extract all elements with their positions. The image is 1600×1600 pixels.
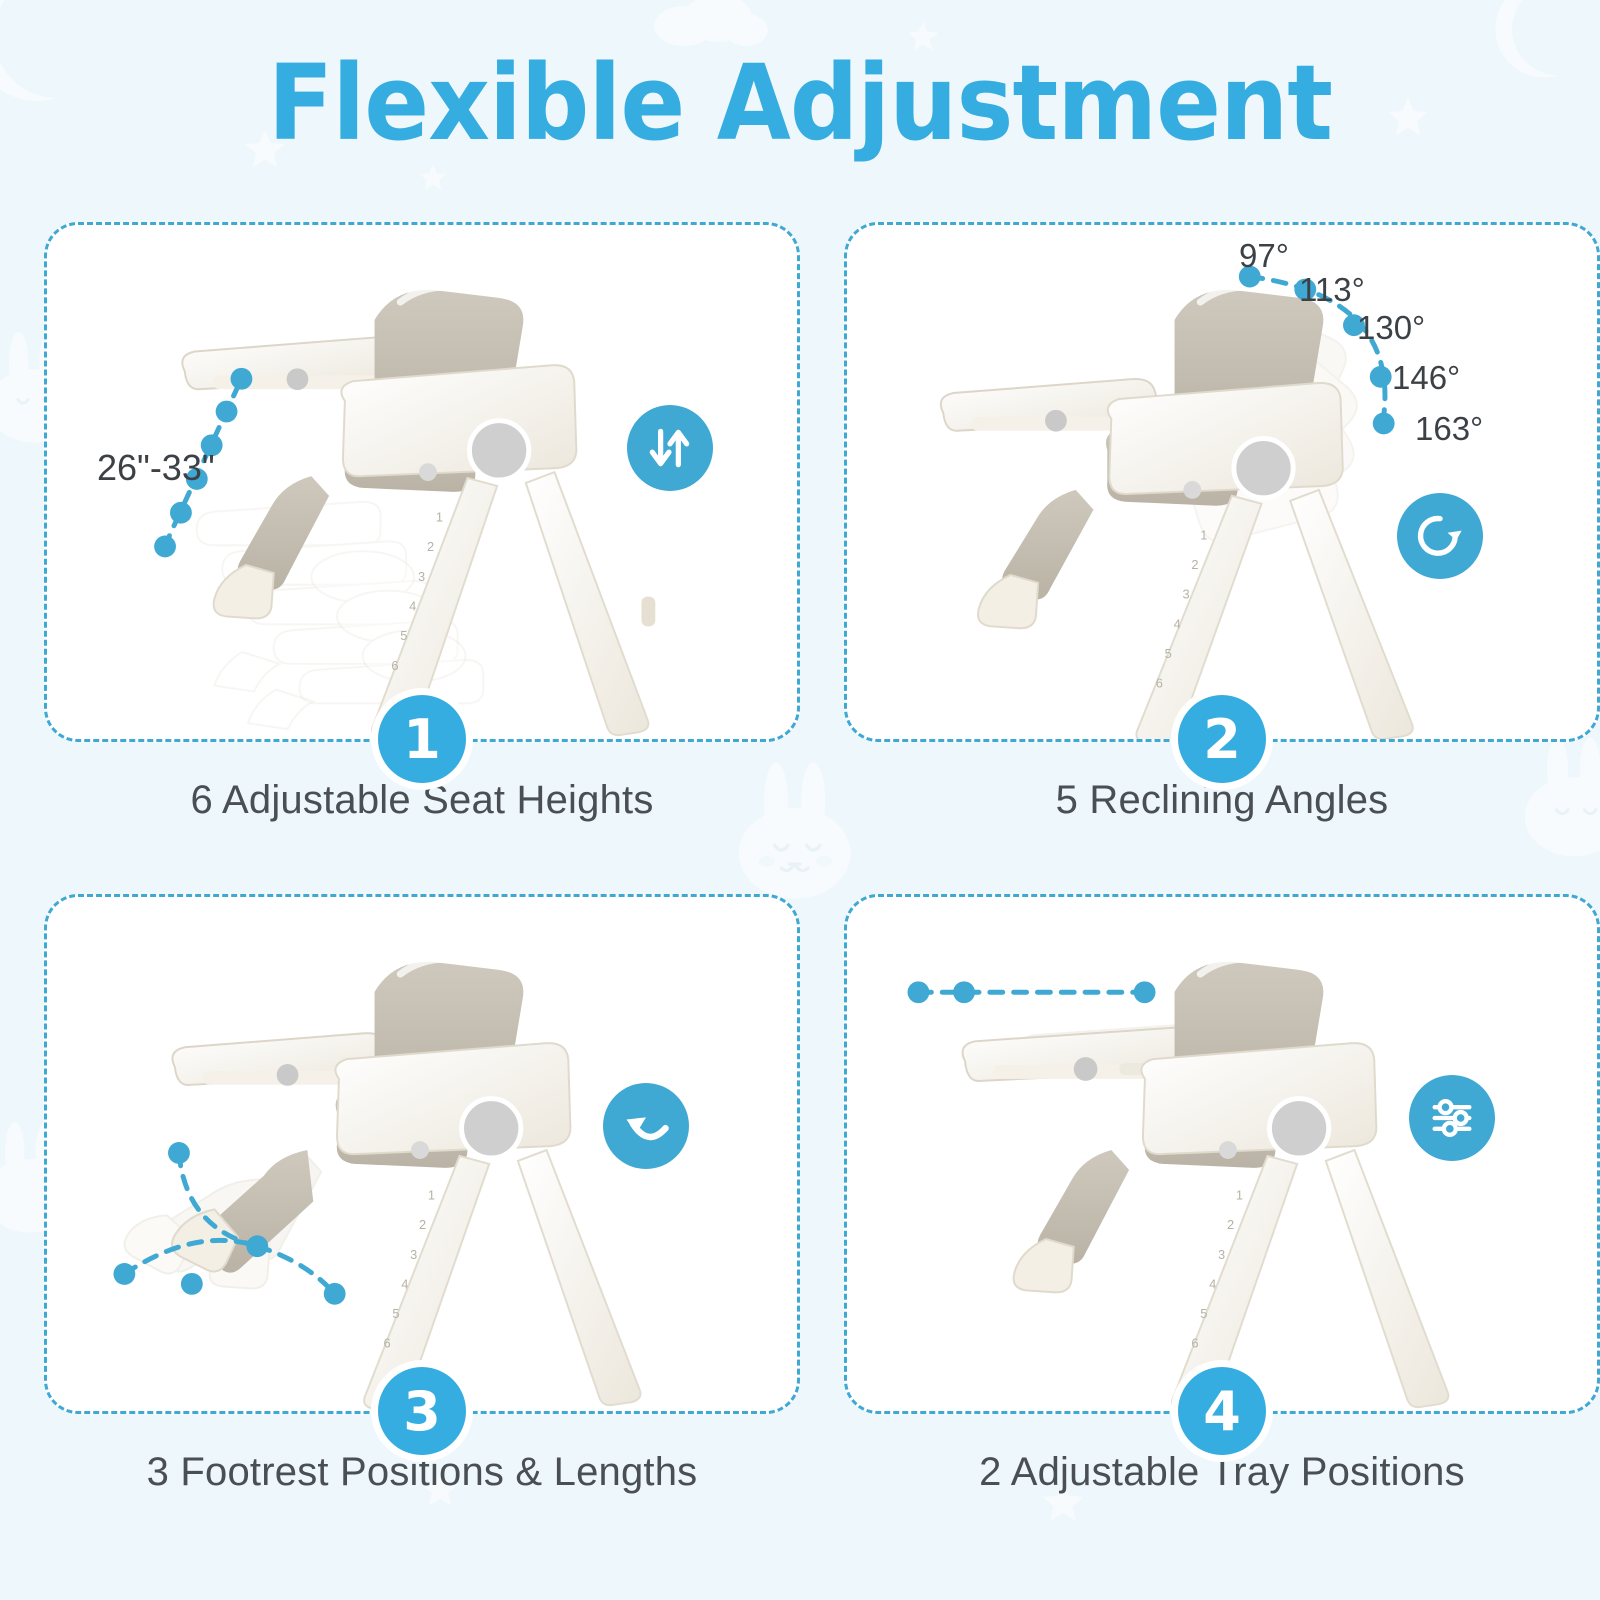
svg-text:5: 5 bbox=[1200, 1306, 1207, 1321]
recline-angle-label-130: 130° bbox=[1357, 309, 1425, 347]
svg-text:5: 5 bbox=[1165, 646, 1172, 661]
panel-number-badge-3: 3 bbox=[378, 1367, 466, 1455]
page-title: Flexible Adjustment bbox=[64, 46, 1536, 160]
panel-caption-1: 6 Adjustable Seat Heights bbox=[44, 778, 800, 823]
svg-text:5: 5 bbox=[392, 1306, 399, 1321]
highchair-illustration-tray: 12 34 56 bbox=[847, 897, 1597, 1411]
panel-card-1: 12 34 56 bbox=[44, 222, 800, 742]
svg-text:2: 2 bbox=[1227, 1217, 1234, 1232]
svg-text:3: 3 bbox=[1182, 587, 1189, 602]
highchair-illustration-footrest: 12 34 56 bbox=[47, 897, 797, 1411]
feature-panel-3: 12 34 56 bbox=[44, 894, 800, 1494]
highchair-illustration-recline: 12 34 56 bbox=[847, 225, 1597, 739]
recline-angle-label-97: 97° bbox=[1239, 237, 1289, 275]
svg-text:6: 6 bbox=[391, 658, 398, 673]
svg-text:1: 1 bbox=[436, 510, 443, 525]
panel-caption-2: 5 Reclining Angles bbox=[844, 778, 1600, 823]
recline-rotate-icon bbox=[1397, 493, 1483, 579]
svg-text:1: 1 bbox=[1236, 1187, 1243, 1202]
svg-text:6: 6 bbox=[1156, 676, 1163, 691]
panel-caption-4: 2 Adjustable Tray Positions bbox=[844, 1450, 1600, 1495]
svg-text:2: 2 bbox=[1191, 557, 1198, 572]
svg-text:6: 6 bbox=[1191, 1336, 1198, 1351]
svg-text:6: 6 bbox=[383, 1336, 390, 1351]
recline-angle-label-113: 113° bbox=[1299, 271, 1365, 309]
star-watermark bbox=[418, 163, 448, 193]
feature-panel-2: 12 34 56 bbox=[844, 222, 1600, 822]
height-adjust-icon bbox=[627, 405, 713, 491]
tray-sliders-icon bbox=[1409, 1075, 1495, 1161]
panel-number-badge-2: 2 bbox=[1178, 695, 1266, 783]
recline-angle-label-163: 163° bbox=[1415, 410, 1483, 448]
panel-caption-3: 3 Footrest Positions & Lengths bbox=[44, 1450, 800, 1495]
svg-text:4: 4 bbox=[409, 599, 416, 614]
panel-number-badge-4: 4 bbox=[1178, 1367, 1266, 1455]
svg-text:2: 2 bbox=[419, 1217, 426, 1232]
panel-card-4: 12 34 56 bbox=[844, 894, 1600, 1414]
recline-angle-label-146: 146° bbox=[1392, 359, 1460, 397]
panel-card-3: 12 34 56 bbox=[44, 894, 800, 1414]
footrest-swing-icon bbox=[603, 1083, 689, 1169]
svg-text:5: 5 bbox=[400, 628, 407, 643]
svg-text:1: 1 bbox=[428, 1187, 435, 1202]
feature-grid: 12 34 56 bbox=[0, 222, 1600, 1494]
svg-text:2: 2 bbox=[427, 539, 434, 554]
feature-panel-1: 12 34 56 bbox=[44, 222, 800, 822]
svg-text:3: 3 bbox=[1218, 1247, 1225, 1262]
svg-text:3: 3 bbox=[418, 569, 425, 584]
seat-height-range-label: 26"-33" bbox=[97, 447, 215, 489]
svg-text:4: 4 bbox=[1174, 616, 1181, 631]
svg-text:1: 1 bbox=[1200, 527, 1207, 542]
svg-text:4: 4 bbox=[401, 1276, 408, 1291]
panel-number-badge-1: 1 bbox=[378, 695, 466, 783]
feature-panel-4: 12 34 56 bbox=[844, 894, 1600, 1494]
svg-text:3: 3 bbox=[410, 1247, 417, 1262]
panel-card-2: 12 34 56 bbox=[844, 222, 1600, 742]
svg-text:4: 4 bbox=[1209, 1276, 1216, 1291]
